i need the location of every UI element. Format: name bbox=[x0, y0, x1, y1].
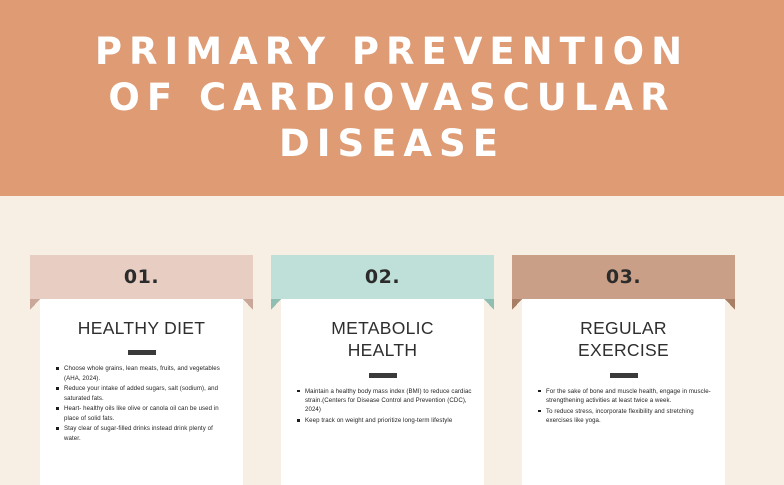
card-1-bullet-list: Choose whole grains, lean meats, fruits,… bbox=[40, 364, 243, 443]
card-1-body: HEALTHY DIET Choose whole grains, lean m… bbox=[40, 299, 243, 485]
card-1-ribbon-band: 01. bbox=[30, 255, 253, 299]
card-1-ribbon: 01. bbox=[30, 255, 253, 299]
card-2-body: METABOLIC HEALTH Maintain a healthy body… bbox=[281, 299, 484, 485]
list-item: For the sake of bone and muscle health, … bbox=[546, 387, 713, 406]
prevention-card-2: 02. METABOLIC HEALTH Maintain a healthy … bbox=[281, 255, 484, 485]
card-3-fold-right-icon bbox=[725, 299, 735, 310]
card-2-divider bbox=[369, 373, 397, 378]
card-2-number: 02. bbox=[365, 266, 400, 288]
card-3-fold-left-icon bbox=[512, 299, 522, 310]
card-2-fold-right-icon bbox=[484, 299, 494, 310]
card-3-bullet-list: For the sake of bone and muscle health, … bbox=[522, 387, 725, 426]
card-3-title: REGULAR EXERCISE bbox=[534, 317, 713, 362]
list-item: Keep track on weight and prioritize long… bbox=[305, 416, 472, 425]
card-2-ribbon-band: 02. bbox=[271, 255, 494, 299]
card-1-title: HEALTHY DIET bbox=[52, 317, 231, 339]
card-1-divider bbox=[128, 350, 156, 355]
card-3-number: 03. bbox=[606, 266, 641, 288]
card-2-ribbon: 02. bbox=[271, 255, 494, 299]
card-3-ribbon-band: 03. bbox=[512, 255, 735, 299]
list-item: Heart- healthy oils like olive or canola… bbox=[64, 404, 231, 423]
card-2-bullet-list: Maintain a healthy body mass index (BMI)… bbox=[281, 387, 484, 426]
card-3-body: REGULAR EXERCISE For the sake of bone an… bbox=[522, 299, 725, 485]
list-item: Choose whole grains, lean meats, fruits,… bbox=[64, 364, 231, 383]
prevention-card-3: 03. REGULAR EXERCISE For the sake of bon… bbox=[522, 255, 725, 485]
list-item: Maintain a healthy body mass index (BMI)… bbox=[305, 387, 472, 415]
list-item: Stay clear of sugar-filled drinks instea… bbox=[64, 424, 231, 443]
card-2-title: METABOLIC HEALTH bbox=[293, 317, 472, 362]
page-title: PRIMARY PREVENTION OF CARDIOVASCULAR DIS… bbox=[95, 29, 689, 168]
list-item: To reduce stress, incorporate flexibilit… bbox=[546, 407, 713, 426]
card-1-fold-left-icon bbox=[30, 299, 40, 310]
prevention-card-1: 01. HEALTHY DIET Choose whole grains, le… bbox=[40, 255, 243, 485]
card-3-ribbon: 03. bbox=[512, 255, 735, 299]
header-banner: PRIMARY PREVENTION OF CARDIOVASCULAR DIS… bbox=[0, 0, 784, 196]
card-3-divider bbox=[610, 373, 638, 378]
card-2-fold-left-icon bbox=[271, 299, 281, 310]
list-item: Reduce your intake of added sugars, salt… bbox=[64, 384, 231, 403]
card-1-fold-right-icon bbox=[243, 299, 253, 310]
card-1-number: 01. bbox=[124, 266, 159, 288]
cards-container: 01. HEALTHY DIET Choose whole grains, le… bbox=[0, 196, 784, 441]
